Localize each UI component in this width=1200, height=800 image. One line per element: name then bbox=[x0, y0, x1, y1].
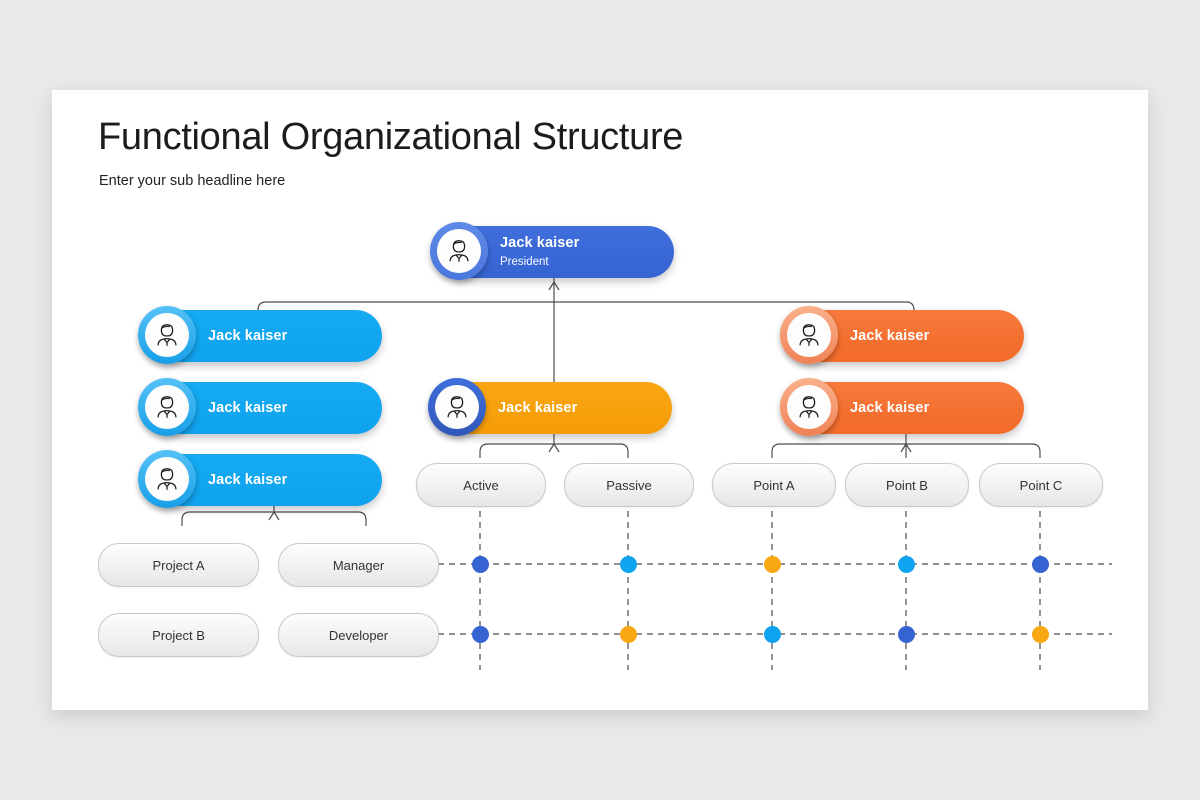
person-avatar-icon bbox=[138, 306, 196, 364]
org-node-president[interactable]: Jack kaiser President bbox=[438, 226, 674, 278]
node-name: Jack kaiser bbox=[208, 472, 287, 488]
node-name: Jack kaiser bbox=[850, 400, 929, 416]
pill-project-b[interactable]: Project B bbox=[98, 613, 259, 657]
slide-card: Functional Organizational Structure Ente… bbox=[52, 90, 1148, 710]
org-node-center-1[interactable]: Jack kaiser bbox=[436, 382, 672, 434]
pill-developer[interactable]: Developer bbox=[278, 613, 439, 657]
pill-passive[interactable]: Passive bbox=[564, 463, 694, 507]
org-node-right-1[interactable]: Jack kaiser bbox=[788, 310, 1024, 362]
person-avatar-icon bbox=[428, 378, 486, 436]
person-avatar-icon bbox=[780, 306, 838, 364]
node-name: Jack kaiser bbox=[208, 400, 287, 416]
grid-dot-r1c5[interactable] bbox=[1032, 556, 1049, 573]
pill-manager[interactable]: Manager bbox=[278, 543, 439, 587]
org-node-left-1[interactable]: Jack kaiser bbox=[146, 310, 382, 362]
grid-dot-r2c5[interactable] bbox=[1032, 626, 1049, 643]
grid-dot-r2c2[interactable] bbox=[620, 626, 637, 643]
node-name: Jack kaiser bbox=[500, 235, 579, 251]
pill-point-b[interactable]: Point B bbox=[845, 463, 969, 507]
person-avatar-icon bbox=[780, 378, 838, 436]
grid-dot-r1c1[interactable] bbox=[472, 556, 489, 573]
node-name: Jack kaiser bbox=[850, 328, 929, 344]
grid-dot-r1c4[interactable] bbox=[898, 556, 915, 573]
person-avatar-icon bbox=[138, 450, 196, 508]
slide-canvas: Functional Organizational Structure Ente… bbox=[0, 0, 1200, 800]
pill-project-a[interactable]: Project A bbox=[98, 543, 259, 587]
org-node-left-3[interactable]: Jack kaiser bbox=[146, 454, 382, 506]
pill-point-c[interactable]: Point C bbox=[979, 463, 1103, 507]
grid-dot-r1c2[interactable] bbox=[620, 556, 637, 573]
node-name: Jack kaiser bbox=[208, 328, 287, 344]
node-role: President bbox=[500, 256, 549, 268]
grid-dot-r2c1[interactable] bbox=[472, 626, 489, 643]
pill-point-a[interactable]: Point A bbox=[712, 463, 836, 507]
grid-dot-r1c3[interactable] bbox=[764, 556, 781, 573]
grid-dot-r2c3[interactable] bbox=[764, 626, 781, 643]
node-name: Jack kaiser bbox=[498, 400, 577, 416]
org-node-right-2[interactable]: Jack kaiser bbox=[788, 382, 1024, 434]
pill-active[interactable]: Active bbox=[416, 463, 546, 507]
org-node-left-2[interactable]: Jack kaiser bbox=[146, 382, 382, 434]
person-avatar-icon bbox=[430, 222, 488, 280]
person-avatar-icon bbox=[138, 378, 196, 436]
grid-dot-r2c4[interactable] bbox=[898, 626, 915, 643]
